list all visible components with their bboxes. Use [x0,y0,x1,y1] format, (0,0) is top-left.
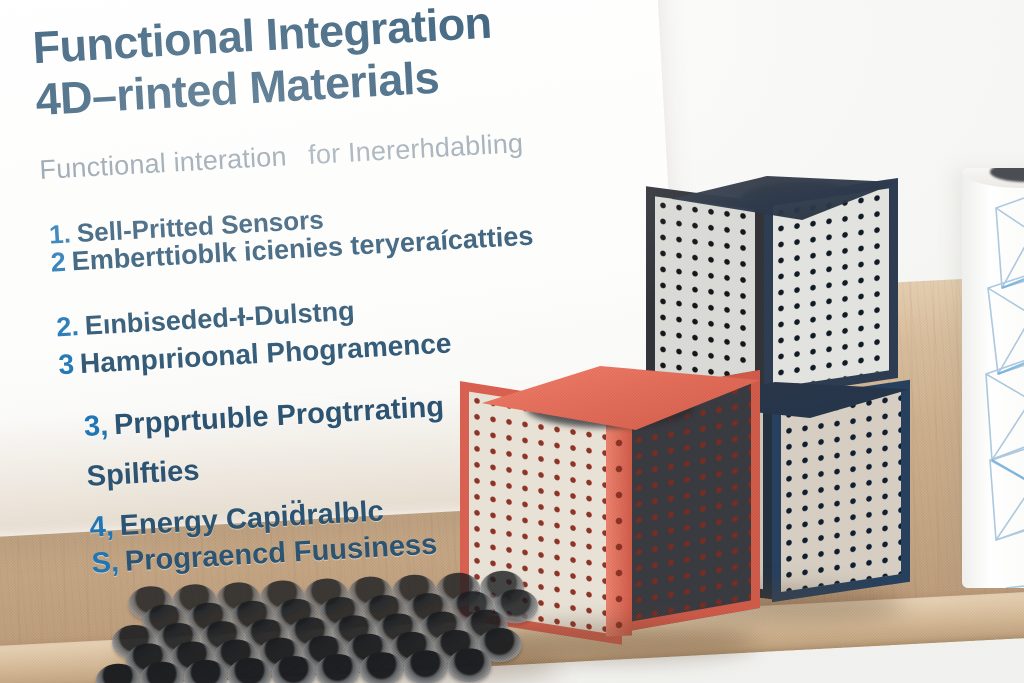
tube-cell [403,649,448,683]
list-item-number: 4, [89,510,115,543]
list-item-label: Spilfties [86,455,200,493]
tube-cell [447,647,492,683]
charcoal-lattice-crate [646,186,898,398]
photo-scene: Functional Integration 4D–rinted Materia… [0,0,1024,683]
list-item-number: S, [91,546,120,579]
subtitle-part-2: for Inererhdabling [307,128,524,170]
list-item-number: 2 [50,247,67,278]
list-item-number: 3, [83,410,109,443]
subtitle-part-1: Functional interation [39,141,288,185]
white-cylinder-object [962,168,1024,588]
page-title: Functional Integration 4D–rinted Materia… [31,0,676,126]
list-item-number: 2. [56,311,80,342]
list-item-number: 1. [48,218,71,249]
page-subtitle: Functional interation for Inererhdabling [39,117,680,187]
honeycomb-tube-array [128,569,552,683]
list-item-label: Prpprtuıble Progtrrating [113,391,445,441]
crate-corner-post [606,400,632,637]
crate-left-face [646,186,764,398]
list-item-number: 3 [58,348,75,380]
list-item: 3,Prpprtuıble Progtrrating [83,391,445,444]
list-item: Spilfties [86,455,200,494]
cylinder-triangulated-pattern [962,168,1024,588]
corner-post-holes [610,404,628,633]
